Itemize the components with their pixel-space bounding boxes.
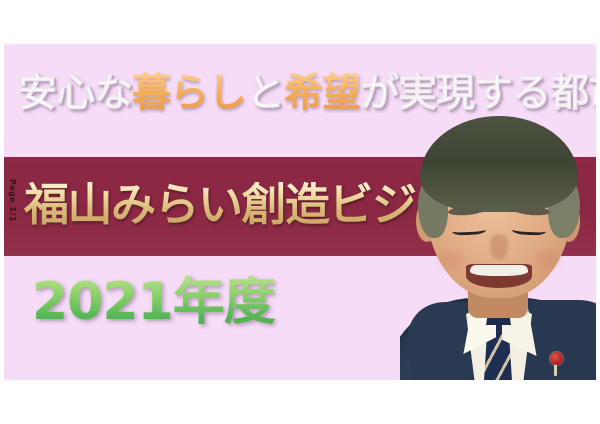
nose [490,234,508,260]
slide-canvas: 安心な暮らしと希望が実現する都市へ Page 1/1 福山みらい創造ビジョン 2… [4,44,596,380]
slide-root: 安心な暮らしと希望が実現する都市へ Page 1/1 福山みらい創造ビジョン 2… [0,0,600,424]
headline-segment-highlight-2: 希望 [284,71,360,116]
mouth [466,264,532,288]
cheek-right [534,250,560,268]
cheek-left [438,250,464,268]
portrait-photo [400,102,596,380]
page-marker-label: Page 1/1 [5,179,17,239]
year-label: 2021年度 [32,276,275,328]
headline-segment-plain-1: 安心な [18,71,132,116]
lapel-pin-stem [554,364,557,376]
lapel-pin-icon [550,352,563,365]
teeth [470,265,528,276]
hair [420,116,578,212]
headline-segment-plain-2: と [246,71,284,116]
headline-segment-highlight-1: 暮らし [132,71,246,116]
